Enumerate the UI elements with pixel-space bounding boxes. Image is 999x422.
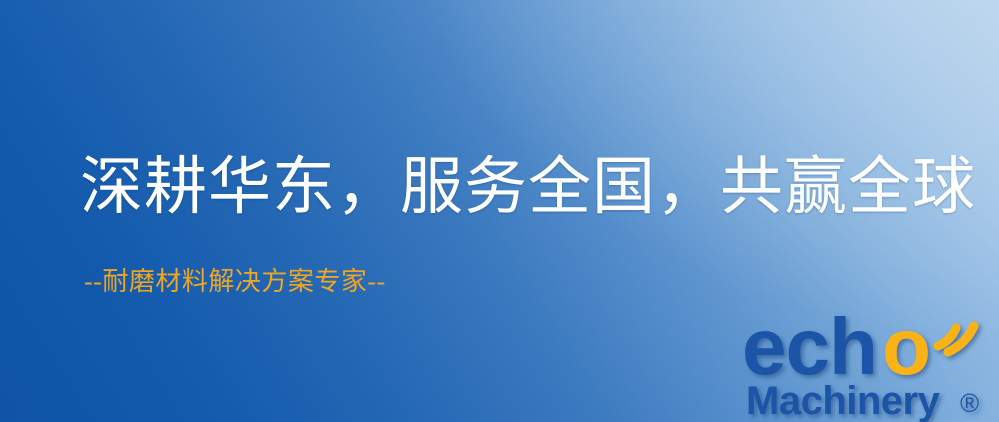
- banner-subtitle: --耐磨材料解决方案专家--: [84, 266, 386, 298]
- logo-tagline: Machinery: [746, 379, 941, 422]
- logo-wordmark-ech: ech: [742, 302, 877, 391]
- banner-headline: 深耕华东，服务全国，共赢全球: [80, 152, 976, 222]
- registered-trademark-icon: ®: [960, 388, 979, 418]
- logo-wordmark-o: o: [882, 302, 931, 391]
- echo-machinery-logo: ech o Machinery ®: [742, 296, 994, 422]
- promotional-banner: 深耕华东，服务全国，共赢全球 --耐磨材料解决方案专家-- ech o Mach…: [0, 0, 999, 422]
- signal-arcs-icon: [938, 326, 974, 352]
